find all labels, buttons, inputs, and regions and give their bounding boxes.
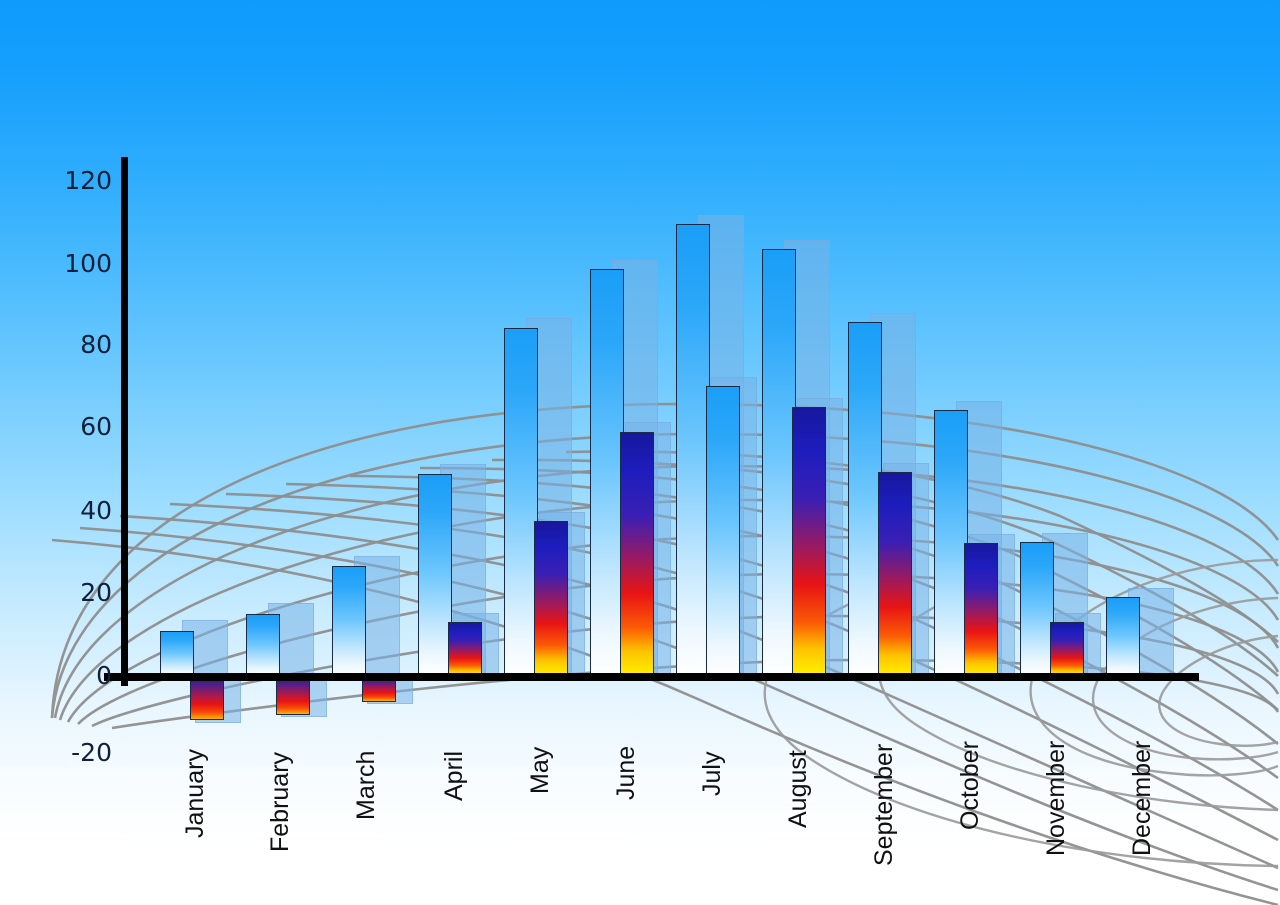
bar-face	[676, 224, 710, 677]
bar-october-series2[interactable]	[964, 543, 998, 677]
bar-june-series2[interactable]	[620, 432, 654, 677]
bar-face	[934, 410, 968, 677]
x-axis	[104, 673, 1199, 681]
bar-face	[160, 631, 194, 677]
y-tick-label-100: 100	[50, 249, 112, 278]
bar-april-series2[interactable]	[448, 622, 482, 677]
x-label-april: April	[440, 751, 469, 801]
x-label-march: March	[352, 751, 381, 820]
bar-face	[762, 249, 796, 677]
bar-november-series1[interactable]	[1020, 542, 1054, 677]
bar-january-series2[interactable]	[190, 677, 224, 720]
bar-face	[418, 474, 452, 677]
bar-january-series1[interactable]	[160, 631, 194, 677]
y-axis	[121, 157, 128, 686]
bar-may-series1[interactable]	[504, 328, 538, 677]
bar-may-series2[interactable]	[534, 521, 568, 677]
x-label-june: June	[612, 746, 641, 800]
bar-face	[448, 622, 482, 677]
bar-august-series1[interactable]	[762, 249, 796, 677]
y-tick-label-0: 0	[50, 661, 112, 690]
bar-face	[534, 521, 568, 677]
bar-face	[1106, 597, 1140, 677]
chart-canvas: 120 100 80 60 40 20 0 -20 January Februa…	[0, 0, 1280, 905]
bar-face	[848, 322, 882, 677]
bar-face	[1050, 622, 1084, 677]
bar-december-series1[interactable]	[1106, 597, 1140, 677]
bar-september-series1[interactable]	[848, 322, 882, 677]
x-label-january: January	[181, 749, 210, 838]
bar-september-series2[interactable]	[878, 472, 912, 677]
bar-face	[1020, 542, 1054, 677]
bar-march-series1[interactable]	[332, 566, 366, 677]
x-label-september: September	[870, 744, 899, 866]
x-label-august: August	[784, 750, 813, 828]
x-label-november: November	[1042, 741, 1071, 856]
bar-face	[878, 472, 912, 677]
x-label-july: July	[698, 752, 727, 796]
y-tick-label-60: 60	[50, 412, 112, 441]
y-tick-label-120: 120	[50, 166, 112, 195]
bar-july-series2[interactable]	[706, 386, 740, 677]
bar-face	[620, 432, 654, 677]
bar-face	[590, 269, 624, 677]
y-tick-label-20: 20	[50, 578, 112, 607]
bar-february-series2[interactable]	[276, 677, 310, 715]
bar-july-series1[interactable]	[676, 224, 710, 677]
x-label-december: December	[1128, 741, 1157, 856]
bar-face	[332, 566, 366, 677]
x-label-february: February	[266, 752, 295, 852]
bar-august-series2[interactable]	[792, 407, 826, 677]
bar-february-series1[interactable]	[246, 614, 280, 677]
x-label-may: May	[526, 747, 555, 794]
bar-face	[276, 677, 310, 715]
bar-face	[504, 328, 538, 677]
bar-june-series1[interactable]	[590, 269, 624, 677]
y-tick-label-40: 40	[50, 496, 112, 525]
y-tick-label-minus20: -20	[42, 738, 112, 767]
bar-april-series1[interactable]	[418, 474, 452, 677]
x-label-october: October	[956, 741, 985, 830]
y-tick-label-80: 80	[50, 330, 112, 359]
plot-area: 120 100 80 60 40 20 0 -20 January Februa…	[0, 0, 1280, 905]
bar-face	[190, 677, 224, 720]
bar-october-series1[interactable]	[934, 410, 968, 677]
bar-face	[964, 543, 998, 677]
bar-november-series2[interactable]	[1050, 622, 1084, 677]
bar-face	[792, 407, 826, 677]
bar-face	[246, 614, 280, 677]
bar-face	[706, 386, 740, 677]
